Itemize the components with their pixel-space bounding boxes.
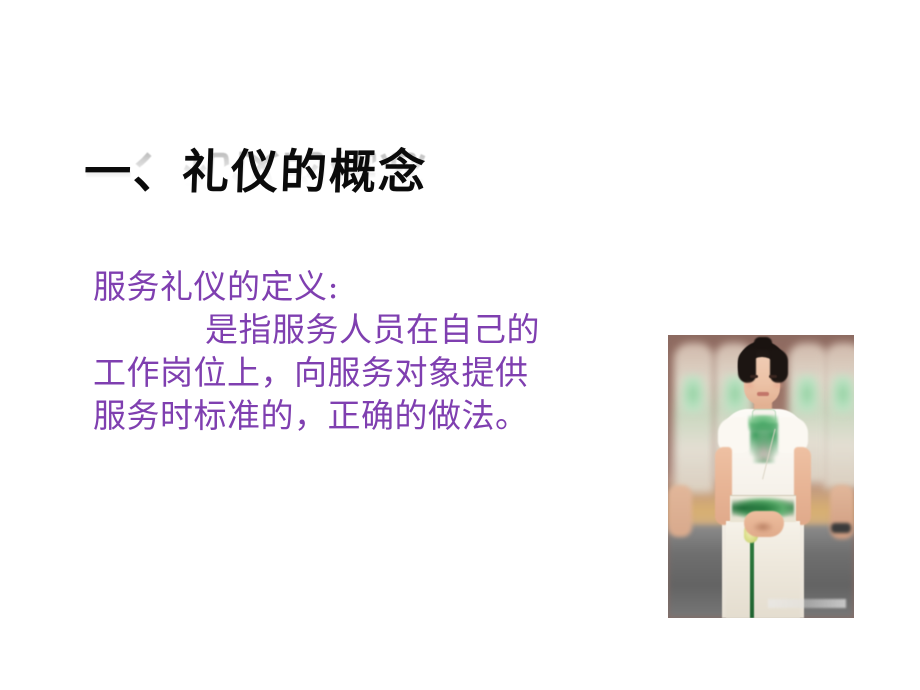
background-model-3-trim xyxy=(796,375,818,413)
model-eye-right xyxy=(769,375,777,378)
page-title: 一、礼仪的概念 xyxy=(83,145,505,201)
presentation-slide: 一、礼仪的概念 一、礼仪的概念 服务礼仪的定义: 是指服务人员在自己的 工作岗位… xyxy=(0,0,920,690)
model-cheek-right xyxy=(772,382,783,389)
background-model-1 xyxy=(674,343,714,493)
body-line-3: 工作岗位上，向服务对象提供 xyxy=(93,351,593,394)
model-hair-bun xyxy=(754,337,772,349)
body-line-2: 是指服务人员在自己的 xyxy=(93,308,593,351)
photo-watermark xyxy=(768,599,846,608)
title-block: 一、礼仪的概念 一、礼仪的概念 xyxy=(84,145,504,265)
flower-stem xyxy=(750,531,754,618)
body-line-1: 服务礼仪的定义: xyxy=(93,265,593,308)
model-hands-shadow xyxy=(752,521,774,533)
background-model-4-trim xyxy=(832,375,854,413)
model-photo xyxy=(668,335,854,618)
model-eye-left xyxy=(750,375,758,378)
background-model-1-trim xyxy=(682,375,704,413)
body-line-4: 服务时标准的，正确的做法。 xyxy=(93,394,593,437)
model-arm-right xyxy=(794,447,811,525)
model-mouth xyxy=(757,392,769,396)
adjacent-model-wristband xyxy=(831,523,851,533)
background-model-4 xyxy=(824,343,854,489)
body-text-block: 服务礼仪的定义: 是指服务人员在自己的 工作岗位上，向服务对象提供 服务时标准的… xyxy=(93,265,593,437)
adjacent-model-arm-left xyxy=(668,485,692,537)
model-cheek-left xyxy=(744,382,755,389)
